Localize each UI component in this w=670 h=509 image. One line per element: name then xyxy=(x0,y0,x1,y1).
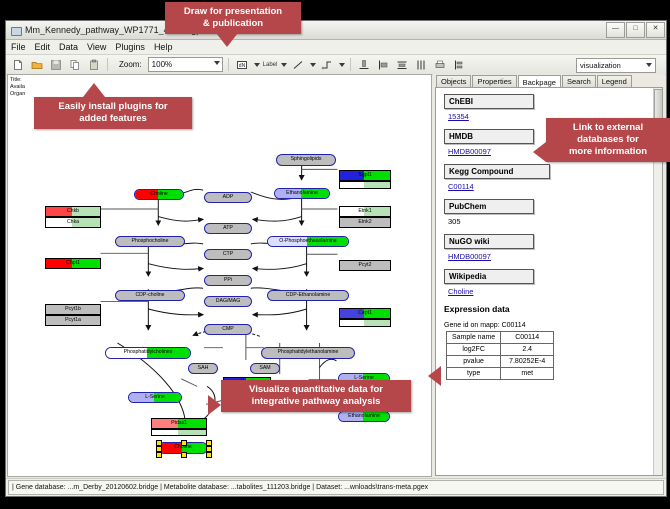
node-label: Chka xyxy=(67,220,79,225)
window-titlebar: Mm_Kennedy_pathway_WP1771_45176.gpml — □… xyxy=(6,21,666,40)
metabolite-node-ethanolamine_right[interactable]: Ethanolamine xyxy=(338,411,390,422)
node-label: DAG/MAG xyxy=(216,299,241,304)
gene-node-pcyt1a[interactable]: Pcyt1a xyxy=(45,315,101,326)
align-bottom-icon[interactable] xyxy=(356,57,372,73)
node-label: Pcyt1a xyxy=(65,318,81,323)
menu-plugins[interactable]: Plugins xyxy=(115,42,145,52)
menubar: File Edit Data View Plugins Help xyxy=(6,40,666,55)
gene-node-ptdss1[interactable]: Ptdss1 xyxy=(151,418,207,429)
db-value-pubchem: 305 xyxy=(448,217,654,226)
menu-file[interactable]: File xyxy=(11,42,26,52)
table-row: log2FC 2.4 xyxy=(447,344,554,356)
node-label: Pcyt1b xyxy=(65,307,81,312)
expr-key: Sample name xyxy=(447,332,501,344)
callout-draw-arrow xyxy=(216,33,238,47)
node-label: CMP xyxy=(222,327,234,332)
metabolite-node-l_serine_left[interactable]: L-Serine xyxy=(128,392,182,403)
metabolite-node-choline_top[interactable]: Choline xyxy=(134,189,184,200)
callout-plugins-arrow xyxy=(83,83,105,97)
metabolite-node-sphingolipids[interactable]: Sphingolipids xyxy=(276,154,336,166)
db-header-nugo: NuGO wiki xyxy=(444,234,534,249)
node-fill-right xyxy=(364,182,390,188)
expr-value: C00114 xyxy=(501,332,554,344)
window-controls: — □ ✕ xyxy=(606,22,666,38)
pathway-canvas[interactable]: Title: Availa Organ xyxy=(7,74,432,477)
chevron-down-icon[interactable] xyxy=(310,63,316,67)
gene-node-cept1[interactable]: Cept1 xyxy=(339,308,391,319)
node-label: ADP xyxy=(223,195,234,200)
expr-value: met xyxy=(501,368,554,380)
node-label: Phosphatidylcholines xyxy=(124,350,173,355)
pathway-drawing-area[interactable]: Title: Availa Organ xyxy=(8,75,431,476)
distribute-vertical-icon[interactable] xyxy=(394,57,410,73)
copy-icon[interactable] xyxy=(67,57,83,73)
metabolite-node-atp[interactable]: ATP xyxy=(204,223,252,234)
node-label: SAM xyxy=(259,366,270,371)
metabolite-node-ppi[interactable]: PPi xyxy=(204,275,252,286)
callout-links-line1: Link to external xyxy=(552,122,664,134)
node-fill-left xyxy=(340,320,366,326)
node-fill-left xyxy=(152,430,180,435)
chevron-down-icon[interactable] xyxy=(339,63,345,67)
metabolite-node-sam[interactable]: SAM xyxy=(250,363,280,374)
table-row: pvalue 7.80252E-4 xyxy=(447,356,554,368)
gene-node-chpt1[interactable]: Chpt1 xyxy=(45,258,101,269)
metabolite-node-o_phosphoethanolamine[interactable]: O-Phosphoethanolamine xyxy=(267,236,349,247)
selection-handle[interactable] xyxy=(206,452,212,458)
datanode-icon[interactable]: dN xyxy=(234,57,250,73)
menu-data[interactable]: Data xyxy=(59,42,78,52)
tab-properties[interactable]: Properties xyxy=(472,75,516,87)
selection-handle[interactable] xyxy=(181,452,187,458)
node-label: Phosphatidylethanolamine xyxy=(278,350,339,355)
selection-handle[interactable] xyxy=(181,440,187,446)
svg-text:dN: dN xyxy=(238,63,245,69)
align-left-icon[interactable] xyxy=(375,57,391,73)
zoom-select[interactable]: 100% xyxy=(148,57,223,72)
toolbar-separator xyxy=(350,58,351,71)
gene-node-pcyt1b[interactable]: Pcyt1b xyxy=(45,304,101,315)
metabolite-node-cdp_ethanolamine[interactable]: CDP-Ethanolamine xyxy=(267,290,349,301)
node-label: Pcyt2 xyxy=(359,263,372,268)
gene-node-ptdss1_b[interactable] xyxy=(151,429,207,436)
callout-links-line3: more information xyxy=(552,146,664,158)
statusbar: | Gene database: ...m_Derby_20120602.bri… xyxy=(6,478,666,496)
expr-key: log2FC xyxy=(447,344,501,356)
paste-icon[interactable] xyxy=(86,57,102,73)
meta-organism: Organ xyxy=(10,91,25,98)
callout-draw-line2: & publication xyxy=(171,18,295,30)
node-fill-left xyxy=(340,182,366,188)
callout-links-arrow xyxy=(533,142,546,162)
selection-handle[interactable] xyxy=(156,452,162,458)
node-label: Choline xyxy=(174,445,192,450)
callout-plugins-line1: Easily install plugins for xyxy=(40,101,186,113)
node-label: Chpt1 xyxy=(66,261,80,266)
menu-view[interactable]: View xyxy=(87,42,106,52)
node-fill-right xyxy=(178,430,206,435)
gene-node-sgpl1_b[interactable] xyxy=(339,181,391,189)
node-label: Chkb xyxy=(67,209,79,214)
expr-value: 7.80252E-4 xyxy=(501,356,554,368)
chevron-down-icon[interactable] xyxy=(281,63,287,67)
metabolite-node-cmp[interactable]: CMP xyxy=(204,324,252,335)
open-folder-icon[interactable] xyxy=(29,57,45,73)
zoom-label: Zoom: xyxy=(119,60,142,69)
metabolite-node-adp[interactable]: ADP xyxy=(204,192,252,203)
chevron-down-icon[interactable] xyxy=(254,63,260,67)
expr-key: type xyxy=(447,368,501,380)
callout-visualize: Visualize quantitative data for integrat… xyxy=(221,380,411,412)
chevron-down-icon xyxy=(214,61,220,65)
metabolite-node-phosphatidylethanolamine[interactable]: Phosphatidylethanolamine xyxy=(261,347,355,359)
db-link-nugo[interactable]: HMDB00097 xyxy=(448,252,654,261)
node-label: O-Phosphoethanolamine xyxy=(279,239,336,244)
app-icon xyxy=(10,25,21,36)
gene-node-pcyt2[interactable]: Pcyt2 xyxy=(339,260,391,271)
callout-visualize-line1: Visualize quantitative data for xyxy=(227,384,405,396)
node-label: PPi xyxy=(224,278,232,283)
expression-table: Sample name C00114 log2FC 2.4 pvalue 7.8… xyxy=(446,331,554,380)
callout-expression-arrow xyxy=(428,366,441,386)
save-icon[interactable] xyxy=(48,57,64,73)
gene-node-sgpl1[interactable]: Sgpl1 xyxy=(339,170,391,181)
metabolite-node-dag_mag[interactable]: DAG/MAG xyxy=(204,296,252,307)
expr-key: pvalue xyxy=(447,356,501,368)
node-label: CDP-choline xyxy=(135,293,164,298)
node-label: Etnk2 xyxy=(358,220,371,225)
tab-search[interactable]: Search xyxy=(562,75,596,87)
line-icon[interactable] xyxy=(290,57,306,73)
meta-availability: Availa xyxy=(10,84,25,91)
menu-help[interactable]: Help xyxy=(154,42,173,52)
callout-visualize-line2: integrative pathway analysis xyxy=(227,396,405,408)
screenshot-root: Mm_Kennedy_pathway_WP1771_45176.gpml — □… xyxy=(0,0,670,509)
node-label: SAH xyxy=(198,366,209,371)
node-label: Sgpl1 xyxy=(358,173,371,178)
minimize-button[interactable]: — xyxy=(606,22,625,38)
distribute-horizontal-icon[interactable] xyxy=(413,57,429,73)
node-label: CDP-Ethanolamine xyxy=(286,293,330,298)
tab-legend[interactable]: Legend xyxy=(597,75,632,87)
db-header-chebi: ChEBI xyxy=(444,94,534,109)
metabolite-node-sah[interactable]: SAH xyxy=(188,363,218,374)
new-file-icon[interactable] xyxy=(10,57,26,73)
metabolite-node-phosphocholine[interactable]: Phosphocholine xyxy=(115,236,185,247)
node-label: Cept1 xyxy=(358,311,372,316)
db-header-pubchem: PubChem xyxy=(444,199,534,214)
toolbar: Zoom: 100% dN Label xyxy=(6,55,666,75)
node-label: ATP xyxy=(223,226,233,231)
gene-node-chka[interactable]: Chka xyxy=(45,217,101,228)
visualization-select[interactable]: visualization xyxy=(576,58,656,73)
db-header-wikipedia: Wikipedia xyxy=(444,269,534,284)
gene-node-etnk1[interactable]: Etnk1 xyxy=(339,206,391,217)
db-link-wikipedia[interactable]: Choline xyxy=(448,287,654,296)
table-row: Sample name C00114 xyxy=(447,332,554,344)
menu-edit[interactable]: Edit xyxy=(35,42,51,52)
label-tool-label[interactable]: Label xyxy=(263,62,278,68)
callout-plugins: Easily install plugins for added feature… xyxy=(34,97,192,129)
print-icon[interactable] xyxy=(432,57,448,73)
db-link-kegg[interactable]: C00114 xyxy=(448,182,654,191)
callout-links: Link to external databases for more info… xyxy=(546,118,670,162)
node-label: CTP xyxy=(223,252,233,257)
node-label: Phosphocholine xyxy=(132,239,169,244)
meta-title: Title: xyxy=(10,77,25,84)
callout-visualize-arrow xyxy=(208,395,221,415)
metabolite-node-ethanolamine_top[interactable]: Ethanolamine xyxy=(274,188,330,199)
node-label: Choline xyxy=(150,192,168,197)
zoom-value: 100% xyxy=(152,60,172,69)
callout-draw: Draw for presentation & publication xyxy=(165,2,301,34)
table-row: type met xyxy=(447,368,554,380)
metabolite-node-phosphatidylcholines[interactable]: Phosphatidylcholines xyxy=(105,347,191,359)
maximize-button[interactable]: □ xyxy=(626,22,645,38)
connector-icon[interactable] xyxy=(319,57,335,73)
expr-value: 2.4 xyxy=(501,344,554,356)
node-label: L-Serine xyxy=(145,395,165,400)
node-label: Ethanolamine xyxy=(348,414,380,419)
pathvisio-window: Mm_Kennedy_pathway_WP1771_45176.gpml — □… xyxy=(5,20,667,497)
callout-links-line2: databases for xyxy=(552,134,664,146)
chevron-down-icon xyxy=(646,63,652,67)
node-label: Sphingolipids xyxy=(291,157,322,162)
pathway-meta: Title: Availa Organ xyxy=(10,77,25,98)
toolbar-separator xyxy=(107,58,108,71)
stack-icon[interactable] xyxy=(451,57,467,73)
gene-node-etnk2[interactable]: Etnk2 xyxy=(339,217,391,228)
gene-node-cept1_b[interactable] xyxy=(339,319,391,327)
expression-gene-id: Gene id on mapp: C00114 xyxy=(444,322,654,329)
expression-heading: Expression data xyxy=(444,304,654,314)
callout-plugins-line2: added features xyxy=(40,113,186,125)
side-panel-tabs: Objects Properties Backpage Search Legen… xyxy=(433,74,665,87)
gene-node-chkb[interactable]: Chkb xyxy=(45,206,101,217)
node-label: Ethanolamine xyxy=(286,191,318,196)
metabolite-node-ctp[interactable]: CTP xyxy=(204,249,252,260)
tab-objects[interactable]: Objects xyxy=(436,75,471,87)
toolbar-separator xyxy=(228,58,229,71)
node-label: Etnk1 xyxy=(358,209,371,214)
node-fill-right xyxy=(364,320,390,326)
callout-draw-line1: Draw for presentation xyxy=(171,6,295,18)
metabolite-node-cdp_choline[interactable]: CDP-choline xyxy=(115,290,185,301)
node-label: Ptdss1 xyxy=(171,421,187,426)
statusbar-databases: | Gene database: ...m_Derby_20120602.bri… xyxy=(8,480,664,495)
db-header-hmdb: HMDB xyxy=(444,129,534,144)
db-header-kegg: Kegg Compound xyxy=(444,164,550,179)
visualization-value: visualization xyxy=(580,61,621,70)
close-button[interactable]: ✕ xyxy=(646,22,665,38)
